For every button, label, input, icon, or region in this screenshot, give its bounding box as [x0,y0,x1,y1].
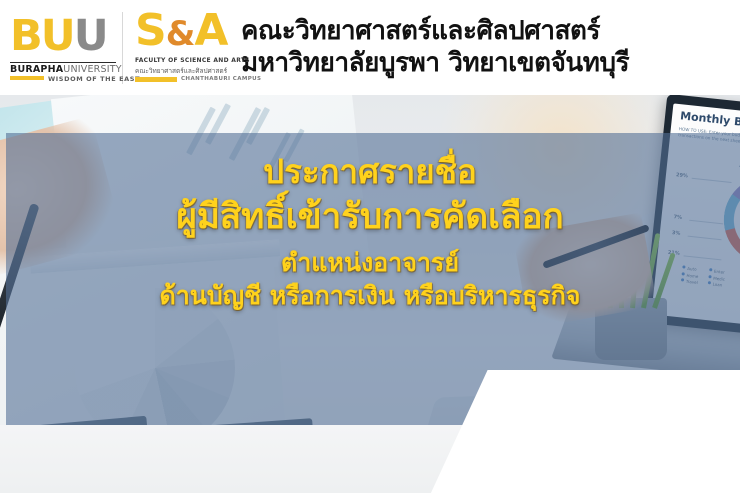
buu-logo-name-bold: BURAPHA [10,64,63,75]
header-divider [122,12,123,84]
buu-logo-letters-u: U [74,11,107,61]
buu-logo-accent-bar [10,76,44,80]
header-title-block: คณะวิทยาศาสตร์และศิลปศาสตร์ มหาวิทยาลัยบ… [241,16,740,79]
buu-logo-name: BURAPHAUNIVERSITY [10,64,122,75]
buu-logo-name-light: UNIVERSITY [63,64,121,75]
buu-logo-letters: BUU [10,15,107,58]
poster-root: BUU BURAPHAUNIVERSITY WISDOM OF THE EAST… [0,0,740,493]
laptop-chart-title: Monthly B [680,109,740,128]
sa-logo-letter-a: A [194,5,227,56]
sa-logo-faculty-th: คณะวิทยาศาสตร์และศิลปศาสตร์ [135,66,227,76]
buu-logo-motto: WISDOM OF THE EAST [48,75,140,83]
header-title-line-1: คณะวิทยาศาสตร์และศิลปศาสตร์ [241,16,740,48]
sa-logo-accent-bar [135,77,177,82]
header-title-line-2: มหาวิทยาลัยบูรพา วิทยาเขตจันทบุรี [241,48,740,80]
header-bar: BUU BURAPHAUNIVERSITY WISDOM OF THE EAST… [0,0,740,95]
sa-logo: S&A FACULTY OF SCIENCE AND ARTS คณะวิทยา… [129,9,229,87]
sa-logo-faculty-en: FACULTY OF SCIENCE AND ARTS [135,57,250,64]
buu-logo-rule [10,62,116,63]
sa-logo-campus: CHANTHABURI CAMPUS [181,76,261,82]
buu-logo: BUU BURAPHAUNIVERSITY WISDOM OF THE EAST [8,13,120,83]
sa-logo-letters: S&A [135,9,227,53]
sa-logo-ampersand: & [166,14,195,54]
buu-logo-letters-bu: BU [10,11,74,61]
sa-logo-letter-s: S [135,5,166,56]
